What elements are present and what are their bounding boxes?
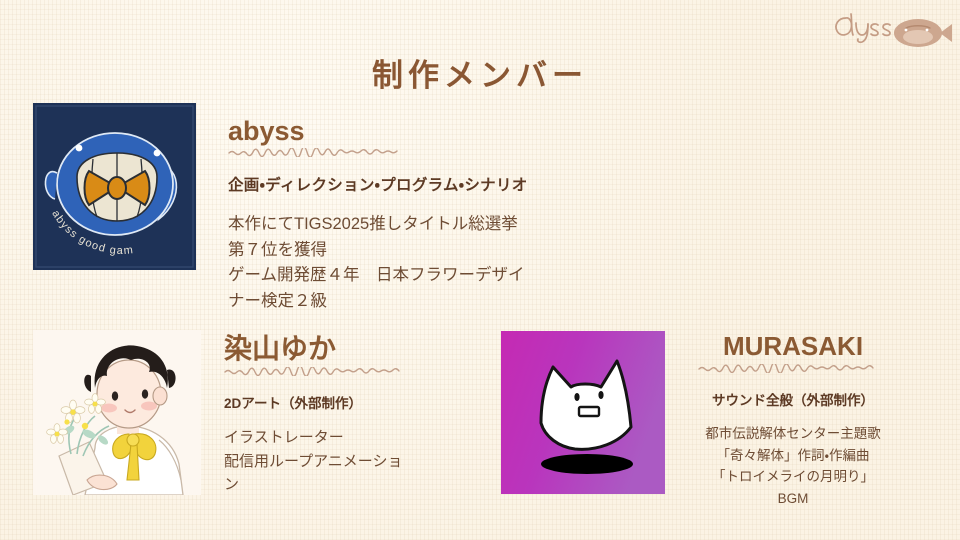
squiggle-underline-icon — [698, 364, 888, 373]
abyss-fish-logo-icon — [832, 6, 956, 54]
member-info-abyss: abyss 企画・ディレクション・プログラム・シナリオ 本作にてTIGS2025… — [228, 117, 528, 315]
slide-canvas: 制作メンバー — [0, 0, 960, 540]
member-info-someyama: 染山ゆか 2Dアート（外部制作） イラストレーター 配信用ループアニメーション — [224, 334, 414, 496]
member-role: 企画・ディレクション・プログラム・シナリオ — [228, 173, 528, 195]
avatar-white-cat-ghost — [501, 331, 665, 494]
member-role: 2Dアート（外部制作） — [224, 392, 414, 412]
fish-shape — [894, 19, 952, 47]
member-name: MURASAKI — [698, 333, 888, 360]
member-info-murasaki: MURASAKI サウンド全般（外部制作） 都市伝説解体センター主題歌 「奇々解… — [698, 333, 888, 510]
member-description: 都市伝説解体センター主題歌 「奇々解体」作詞・作編曲 「トロイメライの月明り」B… — [698, 423, 888, 509]
member-description: 本作にてTIGS2025推しタイトル総選挙第７位を獲得 ゲーム開発歴４年 日本フ… — [228, 212, 528, 314]
avatar-illustrator-portrait — [33, 330, 201, 495]
member-name: 染山ゆか — [224, 334, 414, 363]
person-with-flowers-icon — [33, 330, 201, 495]
member-name: abyss — [228, 117, 528, 145]
squiggle-underline-icon — [224, 367, 414, 376]
page-title: 制作メンバー — [0, 50, 960, 95]
member-role: サウンド全般（外部制作） — [698, 389, 888, 409]
avatar-abyss-good-games-patch: abyss good games — [33, 103, 196, 270]
squiggle-underline-icon — [228, 148, 406, 157]
embroidered-fish-patch-icon: abyss good games — [33, 103, 196, 270]
white-cat-ghost-icon — [501, 331, 665, 494]
member-description: イラストレーター 配信用ループアニメーション — [224, 426, 414, 496]
brand-logo — [832, 6, 956, 54]
